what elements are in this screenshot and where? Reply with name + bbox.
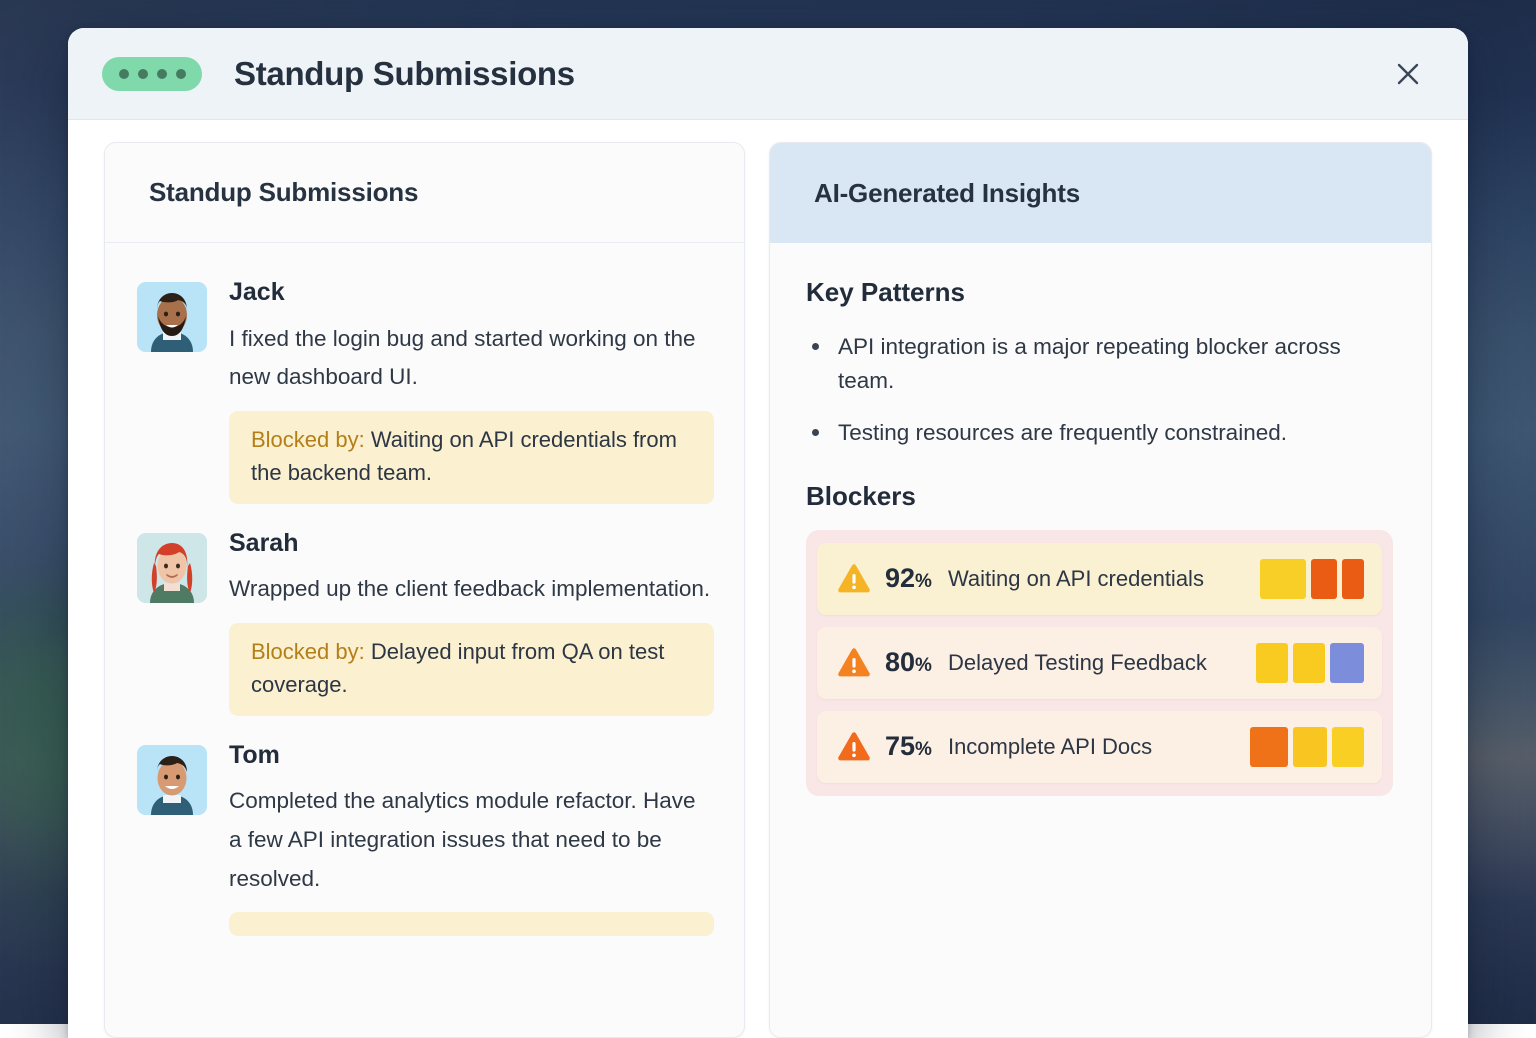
blocked-by-label: Blocked by: — [251, 639, 365, 664]
blocked-by-box: Blocked by: Delayed input from QA on tes… — [229, 623, 714, 716]
badge-dot — [176, 69, 186, 79]
person-name: Tom — [229, 742, 714, 770]
window-titlebar: Standup Submissions — [68, 28, 1468, 120]
blocker-percent: 92% — [885, 563, 932, 594]
blocker-chips — [1260, 559, 1364, 599]
ai-insights-panel: AI-Generated Insights Key Patterns API i… — [769, 142, 1432, 1038]
four-dots-badge-icon — [102, 57, 202, 91]
submission-body: Sarah Wrapped up the client feedback imp… — [229, 530, 714, 716]
submissions-list: Jack I fixed the login bug and started w… — [105, 243, 744, 1037]
submission-update: Completed the analytics module refactor.… — [229, 782, 714, 898]
warning-triangle-icon — [837, 731, 871, 762]
blocker-chips — [1256, 643, 1364, 683]
blocker-row[interactable]: 80% Delayed Testing Feedback — [817, 627, 1382, 699]
blocker-percent: 75% — [885, 731, 932, 762]
blocker-chip — [1250, 727, 1288, 767]
badge-dot — [119, 69, 129, 79]
avatar-jack-icon — [137, 282, 207, 352]
key-patterns-list: API integration is a major repeating blo… — [806, 330, 1393, 451]
blocker-label: Delayed Testing Feedback — [948, 650, 1256, 676]
blocker-chip — [1332, 727, 1364, 767]
submission-item[interactable]: Tom Completed the analytics module refac… — [137, 742, 714, 937]
blocker-label: Waiting on API credentials — [948, 566, 1260, 592]
blocker-row[interactable]: 75% Incomplete API Docs — [817, 711, 1382, 783]
close-icon[interactable] — [1386, 52, 1430, 96]
person-name: Jack — [229, 279, 714, 307]
badge-dot — [157, 69, 167, 79]
key-pattern-item: API integration is a major repeating blo… — [806, 330, 1393, 398]
submission-update: I fixed the login bug and started workin… — [229, 320, 714, 397]
blocker-chips — [1250, 727, 1364, 767]
submission-update: Wrapped up the client feedback implement… — [229, 570, 714, 609]
window-title: Standup Submissions — [234, 55, 575, 93]
avatar-sarah-icon — [137, 533, 207, 603]
left-panel-header: Standup Submissions — [105, 143, 744, 243]
blocker-chip — [1342, 559, 1364, 599]
blocker-chip — [1293, 643, 1325, 683]
blocker-label: Incomplete API Docs — [948, 734, 1250, 760]
blocker-chip — [1311, 559, 1337, 599]
blocker-row[interactable]: 92% Waiting on API credentials — [817, 543, 1382, 615]
blocker-percent: 80% — [885, 647, 932, 678]
badge-dot — [138, 69, 148, 79]
blocked-by-box — [229, 912, 714, 936]
left-panel-title: Standup Submissions — [149, 177, 418, 208]
right-panel-header: AI-Generated Insights — [770, 143, 1431, 243]
blockers-heading: Blockers — [806, 481, 1393, 512]
standup-submissions-modal: Standup Submissions Standup Submissions — [68, 28, 1468, 1038]
blocked-by-box: Blocked by: Waiting on API credentials f… — [229, 411, 714, 504]
standup-submissions-panel: Standup Submissions — [104, 142, 745, 1038]
right-panel-title: AI-Generated Insights — [814, 178, 1080, 209]
person-name: Sarah — [229, 530, 714, 558]
blocker-chip — [1293, 727, 1327, 767]
warning-triangle-icon — [837, 563, 871, 594]
warning-triangle-icon — [837, 647, 871, 678]
submission-body: Jack I fixed the login bug and started w… — [229, 279, 714, 504]
blocker-chip — [1330, 643, 1364, 683]
insights-body: Key Patterns API integration is a major … — [770, 243, 1431, 1037]
avatar-tom-icon — [137, 745, 207, 815]
blocker-chip — [1260, 559, 1306, 599]
modal-body: Standup Submissions — [68, 120, 1468, 1038]
submission-item[interactable]: Sarah Wrapped up the client feedback imp… — [137, 530, 714, 716]
key-patterns-heading: Key Patterns — [806, 277, 1393, 308]
blockers-container: 92% Waiting on API credentials 80% Delay… — [806, 530, 1393, 796]
blocker-chip — [1256, 643, 1288, 683]
submission-item[interactable]: Jack I fixed the login bug and started w… — [137, 279, 714, 504]
key-pattern-item: Testing resources are frequently constra… — [806, 416, 1393, 450]
submission-body: Tom Completed the analytics module refac… — [229, 742, 714, 937]
blocked-by-label: Blocked by: — [251, 427, 365, 452]
